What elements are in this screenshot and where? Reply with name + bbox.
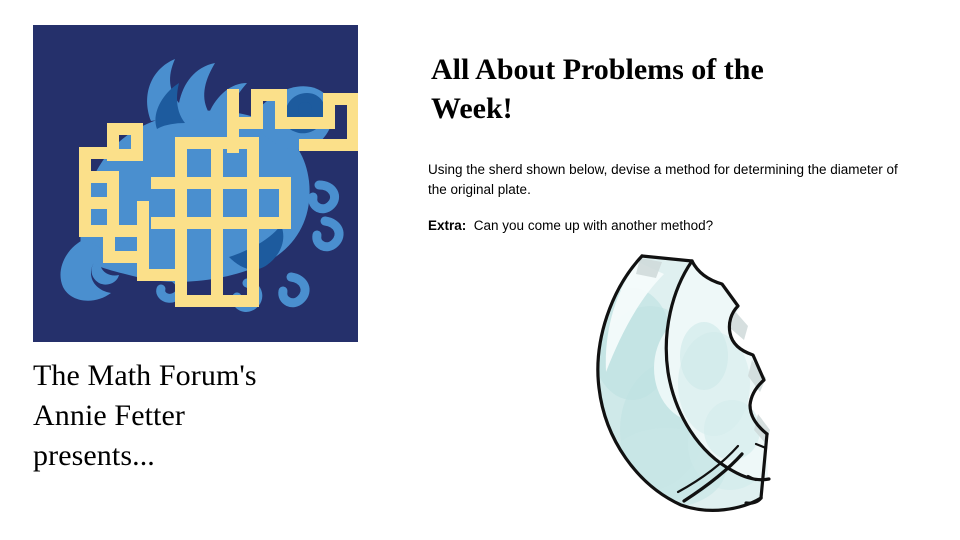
extra-challenge-line: Extra: Can you come up with another meth…	[428, 216, 898, 236]
title-slide-left-column: The Math Forum's Annie Fetter presents..…	[33, 25, 363, 476]
presenter-line-1: The Math Forum's	[33, 356, 363, 396]
presenter-credit: The Math Forum's Annie Fetter presents..…	[33, 356, 363, 476]
presenter-line-2: Annie Fetter	[33, 396, 363, 436]
extra-label: Extra:	[428, 218, 466, 233]
title-slide-right-column: All About Problems of the Week! Using th…	[428, 30, 928, 235]
problem-prompt: Using the sherd shown below, devise a me…	[428, 160, 898, 199]
dragon-logo-icon	[33, 25, 358, 342]
problem-body: Using the sherd shown below, devise a me…	[428, 160, 898, 235]
extra-question: Can you come up with another method?	[474, 218, 713, 233]
pottery-sherd-icon	[580, 248, 800, 513]
slide-title: All About Problems of the Week!	[431, 50, 831, 128]
presenter-line-3: presents...	[33, 436, 363, 476]
sherd-illustration	[580, 248, 800, 513]
math-forum-logo	[33, 25, 358, 342]
